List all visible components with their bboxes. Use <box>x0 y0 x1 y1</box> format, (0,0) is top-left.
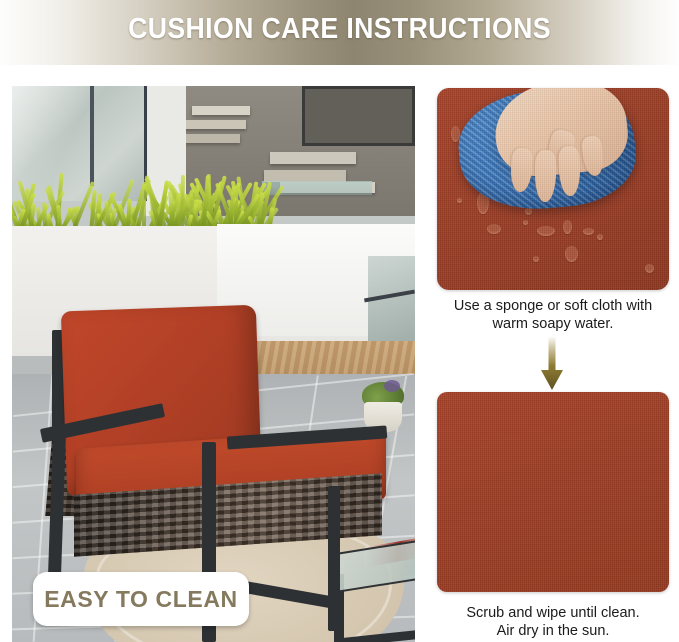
page-title: CUSHION CARE INSTRUCTIONS <box>27 13 652 46</box>
photo-stair-step <box>184 120 246 129</box>
photo-plant-flower <box>384 380 400 392</box>
water-droplet <box>477 192 489 214</box>
photo-dark-window-panel <box>302 86 415 146</box>
step-2-image <box>437 392 669 592</box>
microfiber-cloth <box>454 88 640 215</box>
infographic-page: CUSHION CARE INSTRUCTIONS <box>0 0 679 642</box>
finger <box>509 147 533 192</box>
step-1-caption: Use a sponge or soft cloth with warm soa… <box>437 297 669 333</box>
water-droplet <box>451 126 460 142</box>
water-droplet <box>533 256 539 262</box>
step-1-caption-line-2: warm soapy water. <box>437 315 669 333</box>
finger <box>558 146 581 197</box>
water-droplet <box>537 226 555 236</box>
step-2-caption: Scrub and wipe until clean. Air dry in t… <box>437 604 669 640</box>
chair-leg-back-right <box>328 486 340 631</box>
easy-to-clean-label: EASY TO CLEAN <box>44 586 238 613</box>
water-droplet <box>525 208 532 215</box>
finger <box>581 135 606 177</box>
step-2-caption-line-1: Scrub and wipe until clean. <box>437 604 669 622</box>
water-droplet <box>565 246 578 262</box>
product-lifestyle-photo <box>12 86 415 642</box>
water-droplet <box>645 264 654 273</box>
water-droplet <box>563 220 572 234</box>
water-droplet <box>487 224 501 234</box>
photo-stair-step <box>270 152 356 164</box>
step-1-image <box>437 88 669 290</box>
water-droplet <box>597 234 603 240</box>
thumb <box>545 127 577 166</box>
step-2-caption-line-2: Air dry in the sun. <box>437 622 669 640</box>
photo-plant-bed <box>12 170 271 232</box>
water-droplet <box>523 220 528 225</box>
down-arrow-icon <box>540 336 564 390</box>
step-1-caption-line-1: Use a sponge or soft cloth with <box>437 297 669 315</box>
easy-to-clean-badge: EASY TO CLEAN <box>33 572 249 626</box>
water-droplet <box>457 198 462 203</box>
water-droplet <box>583 228 594 235</box>
hand <box>491 88 632 181</box>
finger <box>535 150 557 202</box>
photo-stair-step <box>192 106 250 115</box>
photo-stair-step <box>180 134 240 143</box>
